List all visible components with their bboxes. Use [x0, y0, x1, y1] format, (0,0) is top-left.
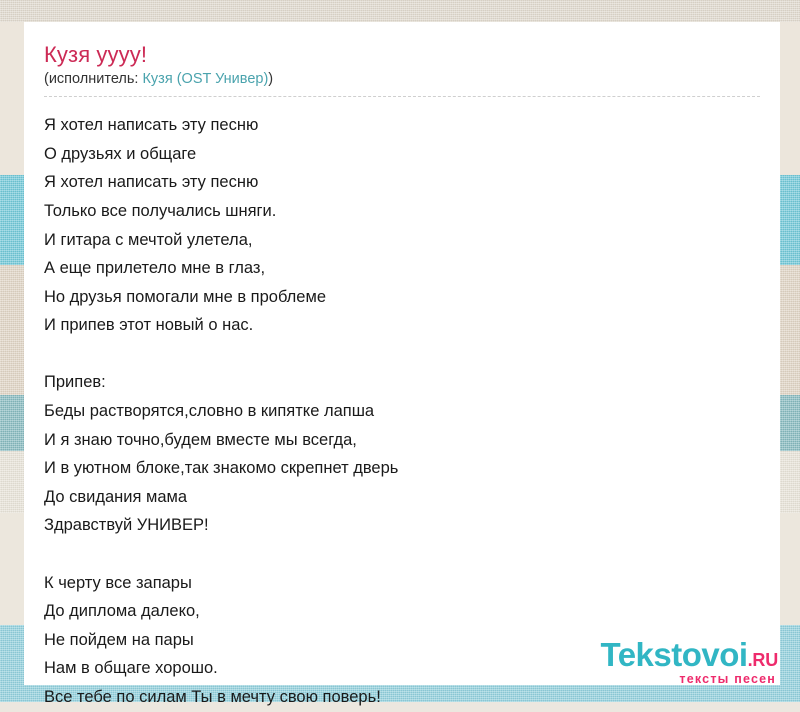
lyric-line: Только все получались шняги. — [44, 197, 760, 226]
byline-suffix-label: ) — [268, 71, 273, 87]
lyric-line: И припев этот новый о нас. — [44, 311, 760, 340]
artist-link[interactable]: Кузя (OST Универ) — [142, 71, 268, 87]
lyric-line: До свидания мама — [44, 483, 760, 512]
lyric-line: И я знаю точно,будем вместе мы всегда, — [44, 426, 760, 455]
lyric-line: Здравствуй УНИВЕР! — [44, 511, 760, 540]
lyric-line: И в уютном блоке,так знакомо скрепнет дв… — [44, 454, 760, 483]
song-header: Кузя уууу! (исполнитель: Кузя (OST Униве… — [24, 22, 780, 96]
lyric-line: Я хотел написать эту песню — [44, 168, 760, 197]
lyrics-card: Кузя уууу! (исполнитель: Кузя (OST Униве… — [24, 22, 780, 685]
lyric-line: До диплома далеко, — [44, 597, 760, 626]
lyric-line: Беды растворятся,словно в кипятке лапша — [44, 397, 760, 426]
lyric-line-blank — [44, 340, 760, 369]
logo-main-text: Tekstovoi — [601, 636, 748, 673]
logo-tagline: тексты песен — [601, 672, 777, 686]
stripe-beige-top — [0, 0, 800, 22]
lyric-line-blank — [44, 540, 760, 569]
lyric-line: Припев: — [44, 368, 760, 397]
lyrics-text: Я хотел написать эту песнюО друзьях и об… — [24, 97, 780, 711]
lyric-line: Но друзья помогали мне в проблеме — [44, 283, 760, 312]
page-title: Кузя уууу! — [44, 42, 760, 67]
byline-prefix-label: (исполнитель: — [44, 71, 138, 87]
lyric-line: О друзьях и общаге — [44, 140, 760, 169]
lyric-line: А еще прилетело мне в глаз, — [44, 254, 760, 283]
artist-byline: (исполнитель: Кузя (OST Универ)) — [44, 70, 760, 96]
lyric-line: Я хотел написать эту песню — [44, 111, 760, 140]
logo-tld-text: .RU — [748, 650, 778, 670]
site-logo[interactable]: Tekstovoi.RU тексты песен — [601, 638, 779, 686]
lyric-line: И гитара с мечтой улетела, — [44, 226, 760, 255]
logo-wordmark: Tekstovoi.RU — [601, 638, 779, 671]
lyric-line: Все тебе по силам Ты в мечту свою поверь… — [44, 683, 760, 712]
lyric-line: К черту все запары — [44, 569, 760, 598]
